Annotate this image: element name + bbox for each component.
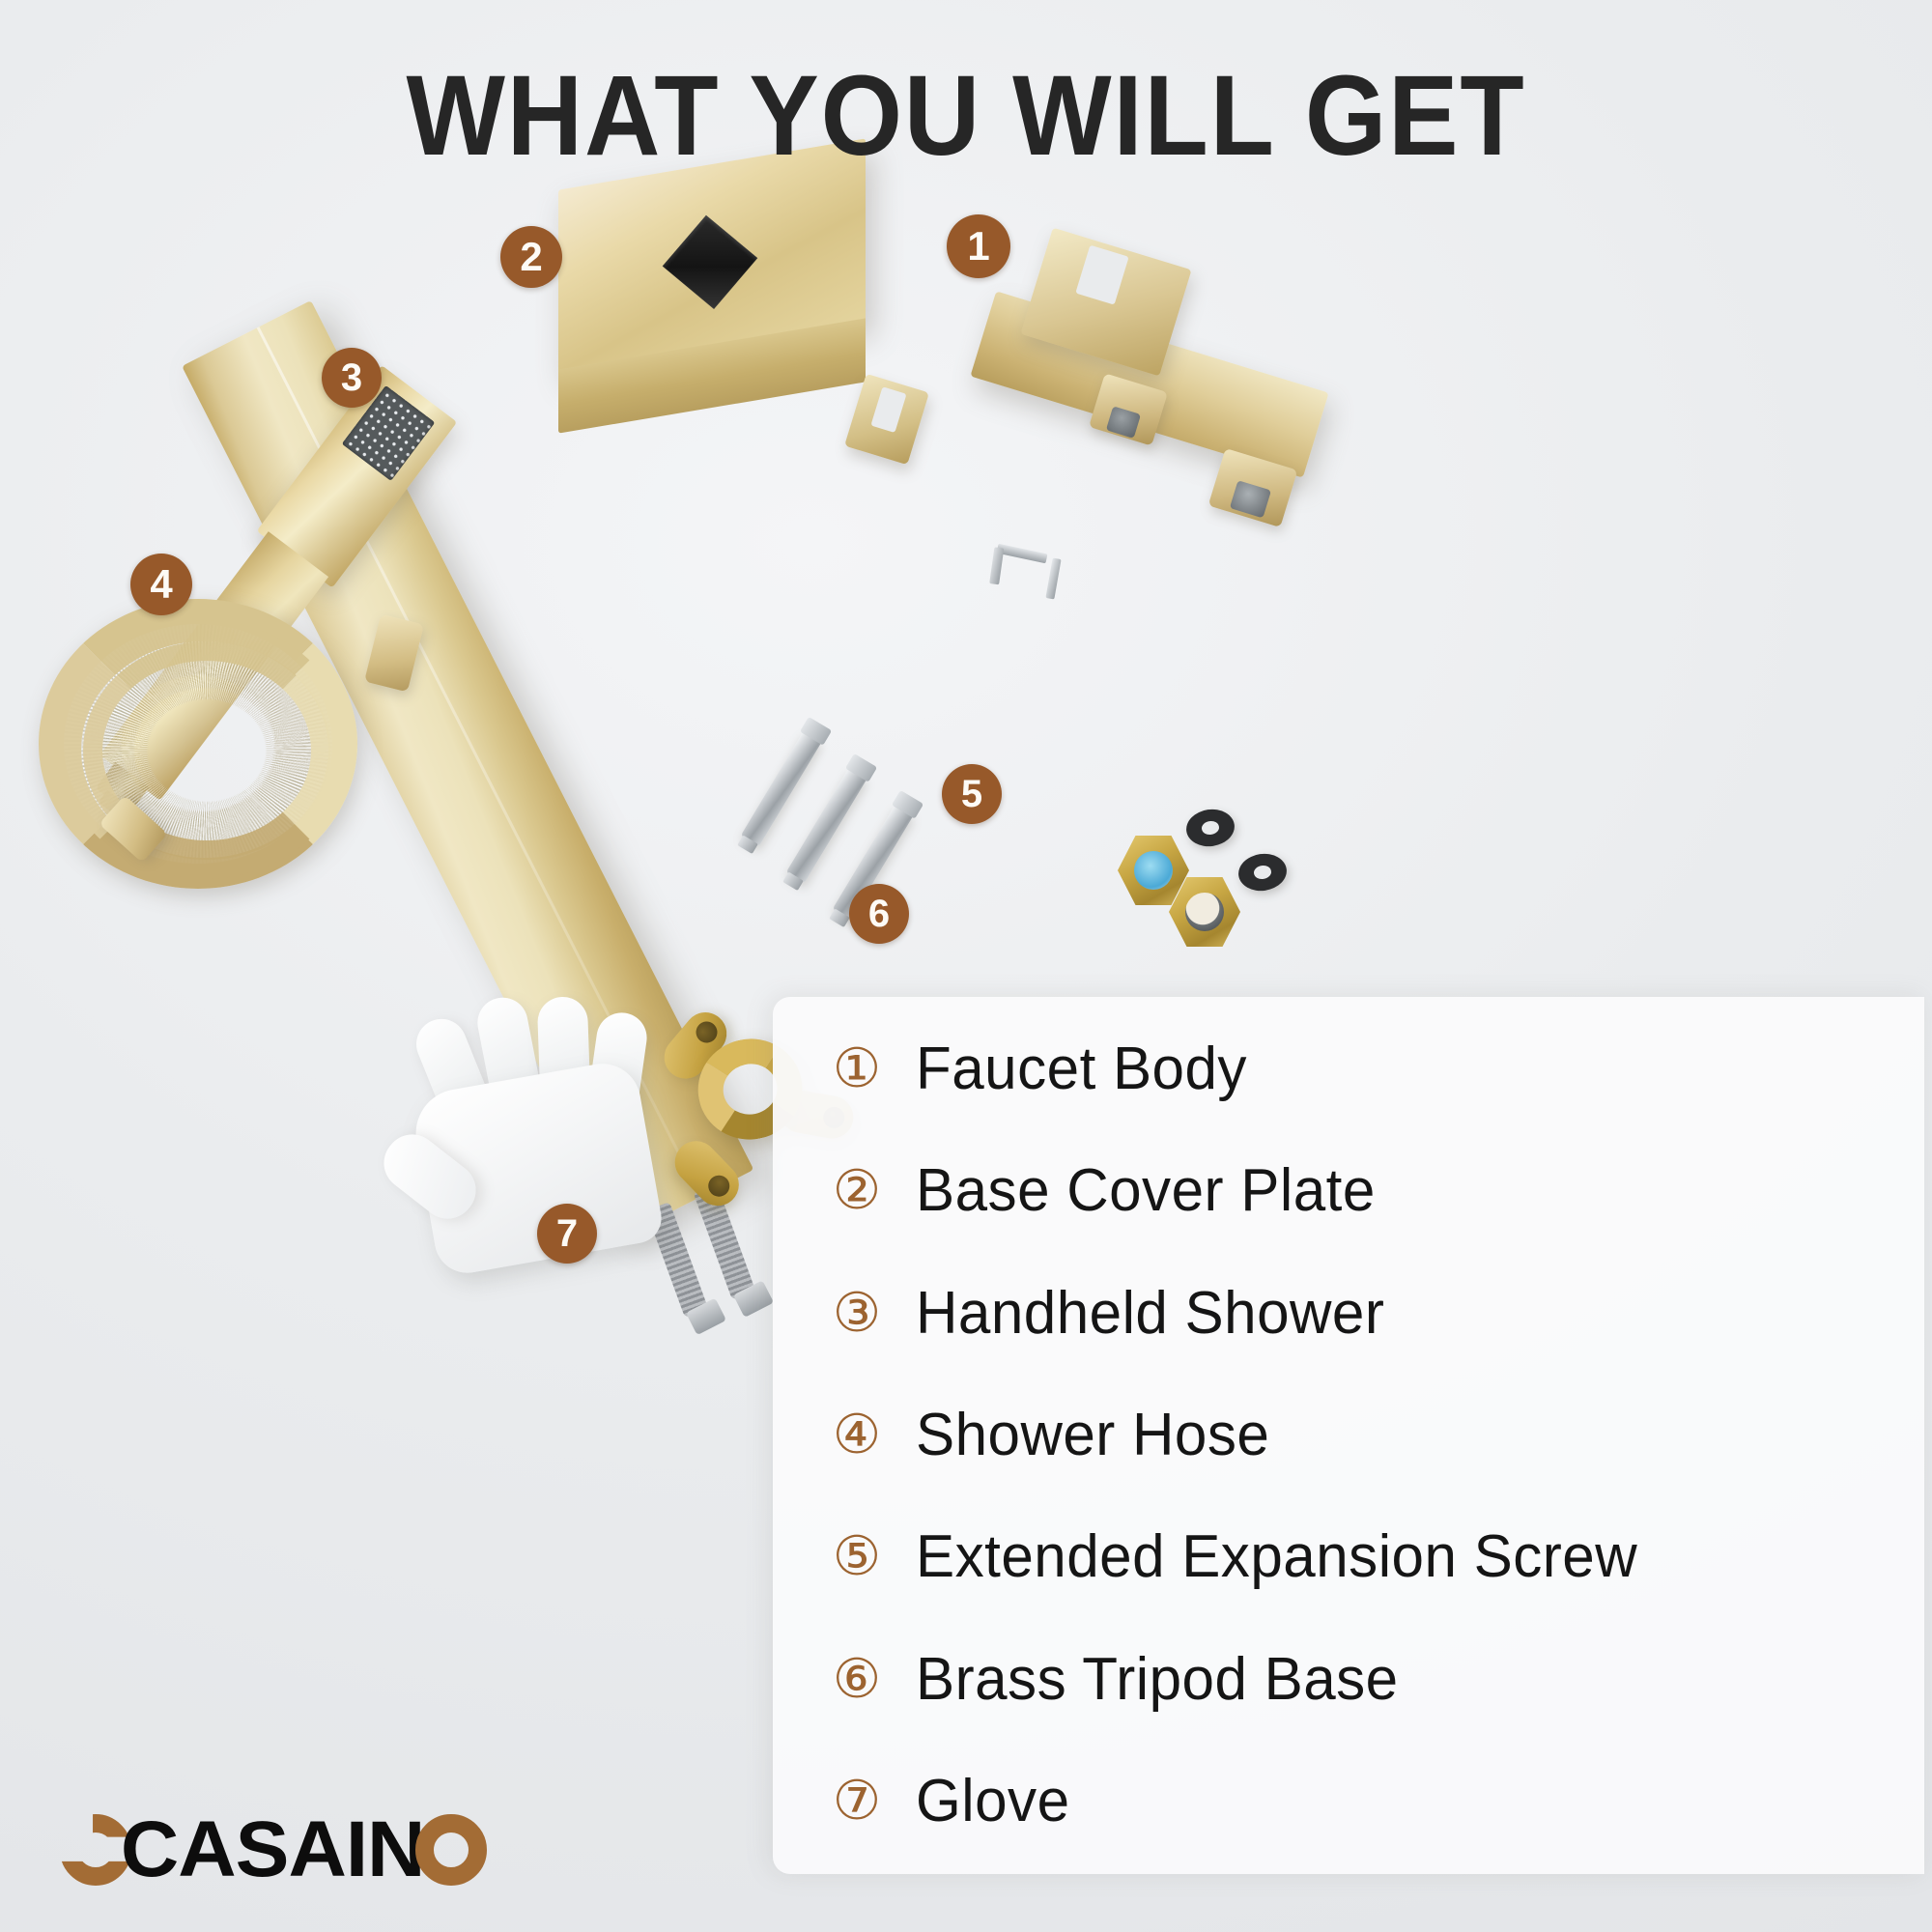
expansion-screw-1 — [741, 729, 823, 846]
legend-item-glove: ⑦ Glove — [827, 1772, 1924, 1832]
legend-marker-7: ⑦ — [827, 1775, 887, 1829]
badge-6-brass-tripod-base: 6 — [849, 884, 909, 944]
shower-hose-image — [39, 599, 406, 918]
legend-label-2: Base Cover Plate — [916, 1161, 1376, 1221]
badge-7-glove: 7 — [537, 1204, 597, 1264]
handheld-holder-clip — [844, 374, 929, 465]
brand-name: CASAIN — [121, 1804, 425, 1895]
rubber-washer-1 — [1184, 807, 1237, 850]
base-cover-plate-image — [558, 138, 866, 431]
badge-1-faucet-body: 1 — [947, 214, 1010, 278]
legend-item-faucet-body: ① Faucet Body — [827, 1039, 1924, 1099]
legend-item-extended-expansion-screw: ⑤ Extended Expansion Screw — [827, 1527, 1924, 1587]
tripod-leg-3 — [667, 1132, 748, 1214]
parts-legend-panel: ① Faucet Body ② Base Cover Plate ③ Handh… — [773, 997, 1924, 1874]
allen-key-image — [997, 544, 1048, 564]
legend-item-brass-tripod-base: ⑥ Brass Tripod Base — [827, 1650, 1924, 1710]
legend-marker-5: ⑤ — [827, 1530, 887, 1584]
badge-2-base-cover-plate: 2 — [500, 226, 562, 288]
legend-marker-6: ⑥ — [827, 1653, 887, 1707]
product-infographic: WHAT YOU WILL GET — [0, 0, 1932, 1932]
c-ring-icon — [415, 1814, 487, 1886]
brand-logo: CASAIN — [60, 1804, 487, 1895]
rubber-washer-2 — [1236, 851, 1290, 895]
legend-label-3: Handheld Shower — [916, 1284, 1384, 1344]
legend-label-1: Faucet Body — [916, 1039, 1247, 1099]
page-title: WHAT YOU WILL GET — [77, 50, 1855, 182]
legend-item-base-cover-plate: ② Base Cover Plate — [827, 1161, 1924, 1221]
legend-label-4: Shower Hose — [916, 1406, 1269, 1465]
legend-item-handheld-shower: ③ Handheld Shower — [827, 1284, 1924, 1344]
badge-4-shower-hose: 4 — [130, 554, 192, 615]
legend-marker-1: ① — [827, 1042, 887, 1096]
badge-3-handheld-shower: 3 — [322, 348, 382, 408]
legend-label-6: Brass Tripod Base — [916, 1650, 1399, 1710]
expansion-screw-2 — [786, 766, 868, 883]
legend-label-7: Glove — [916, 1772, 1070, 1832]
legend-marker-4: ④ — [827, 1408, 887, 1463]
legend-marker-3: ③ — [827, 1287, 887, 1341]
legend-item-shower-hose: ④ Shower Hose — [827, 1406, 1924, 1465]
legend-marker-2: ② — [827, 1164, 887, 1218]
small-pin-image — [1045, 558, 1061, 600]
badge-5-expansion-screw: 5 — [942, 764, 1002, 824]
legend-label-5: Extended Expansion Screw — [916, 1527, 1637, 1587]
